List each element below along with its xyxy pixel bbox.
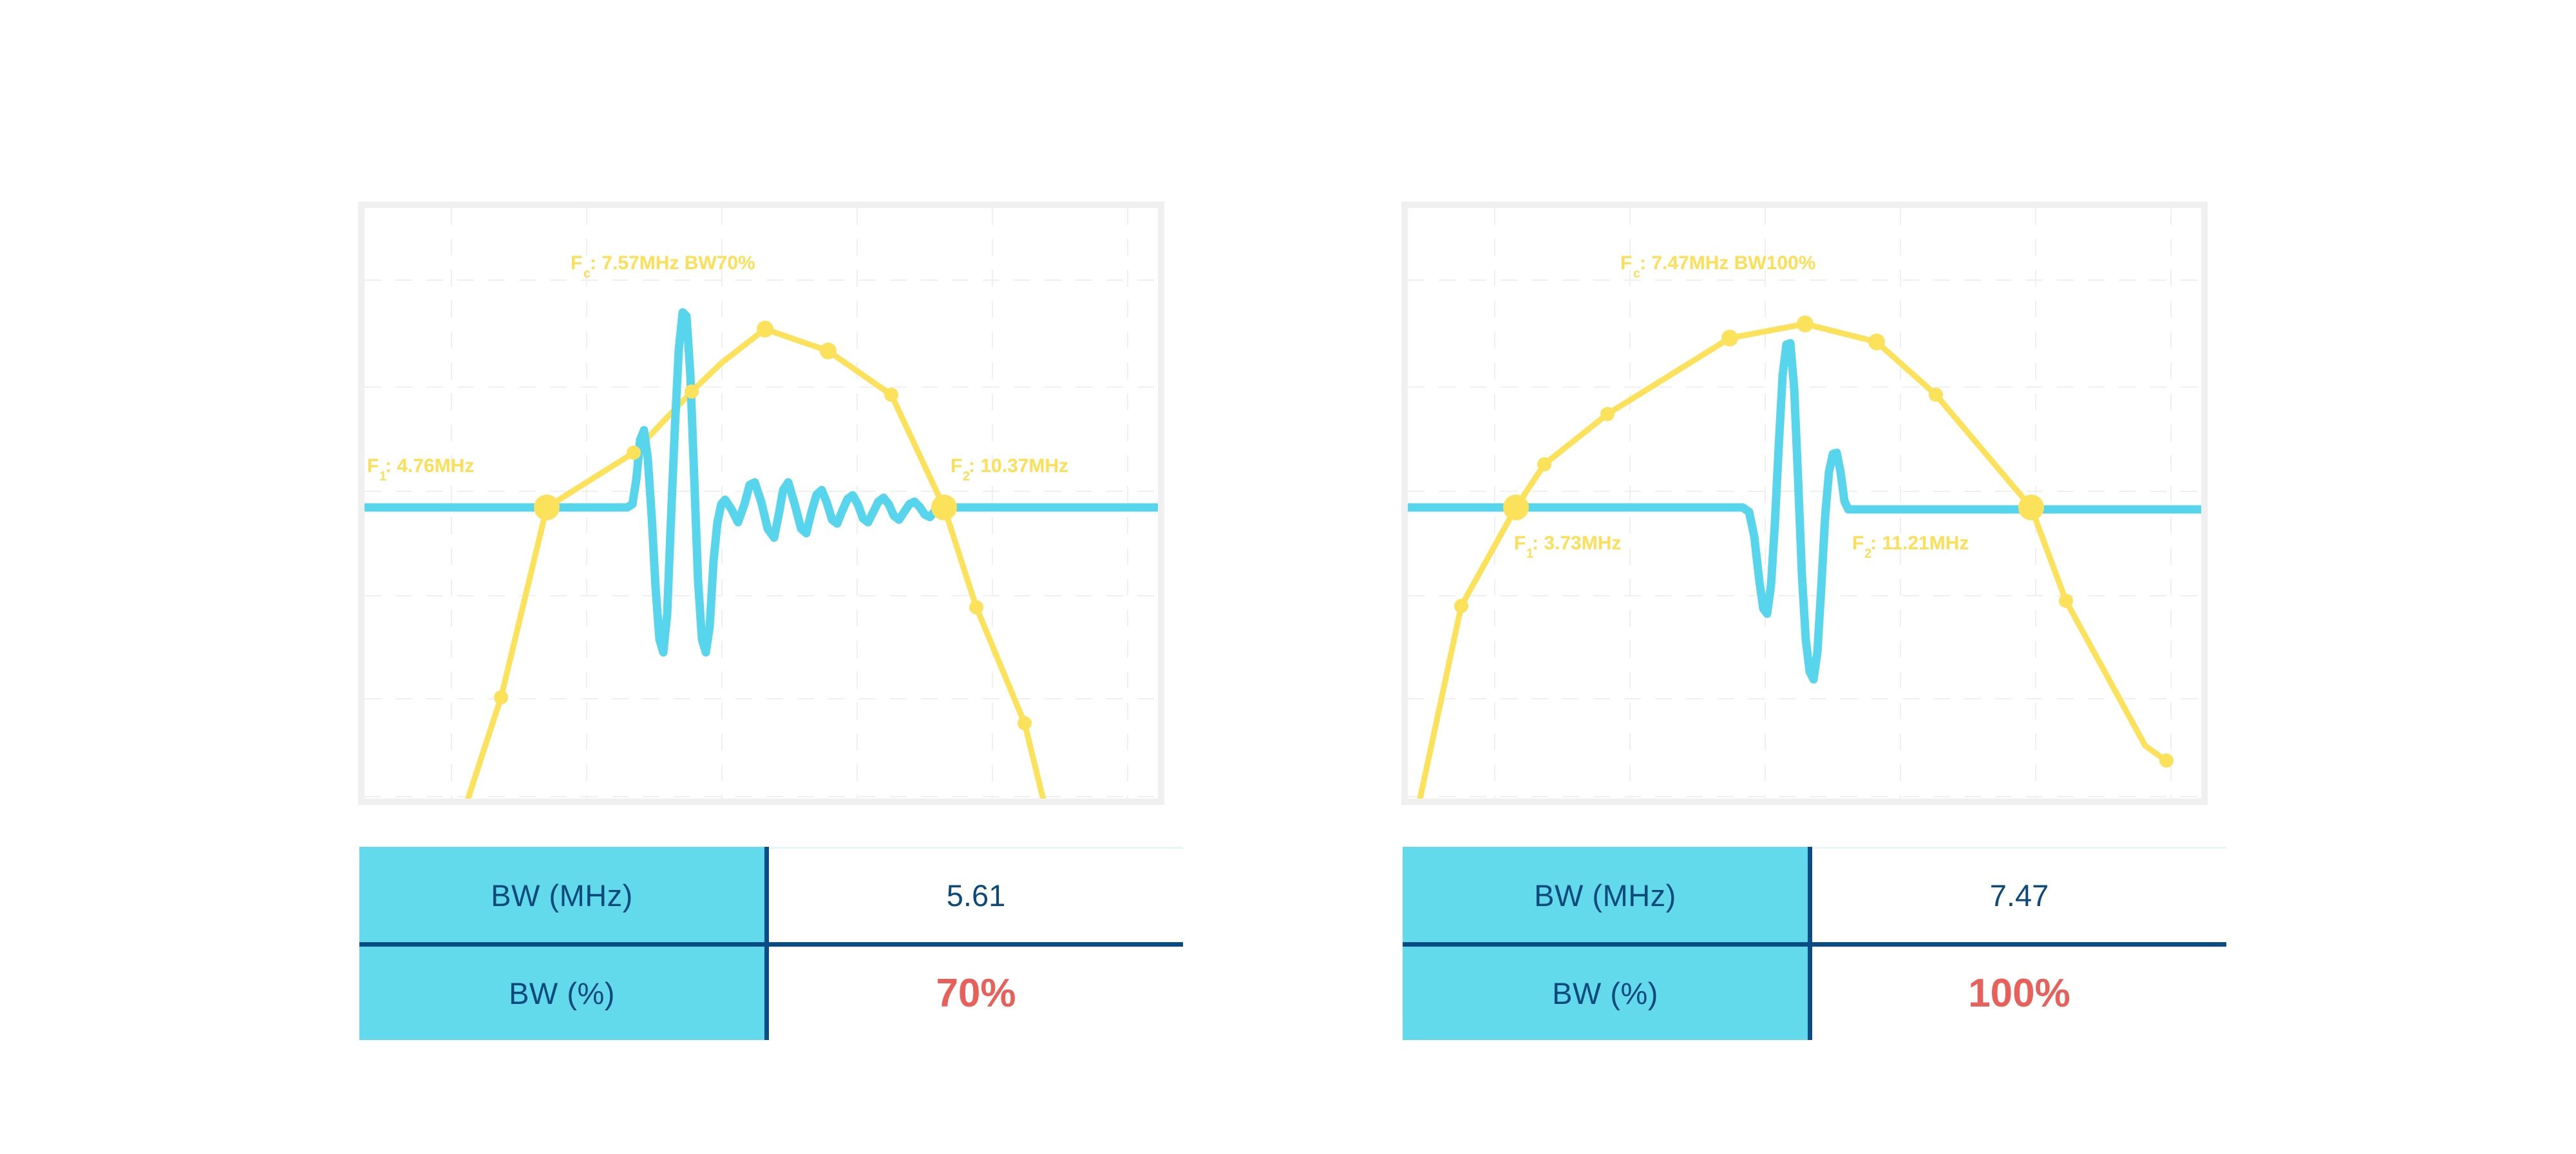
annotation-f2-text: : 11.21MHz bbox=[1870, 533, 1969, 554]
table-row: BW (MHz) 5.61 bbox=[359, 848, 1183, 945]
annotation-f1-text: : 3.73MHz bbox=[1532, 533, 1621, 554]
chart-bw100: F c : 7.47MHz BW100% F 1 : 3.73MHz F 2 :… bbox=[1401, 202, 2208, 805]
annotation-f2: F 2 : 10.37MHz bbox=[951, 455, 1068, 484]
annotation-center-text: : 7.57MHz BW70% bbox=[590, 252, 755, 274]
annotation-f1-text: : 4.76MHz bbox=[385, 455, 474, 477]
annotation-f2-prefix: F bbox=[1852, 533, 1864, 554]
chart-bw70: F c : 7.57MHz BW70% F 1 : 4.76MHz F 2 : … bbox=[358, 202, 1164, 805]
table-row: BW (MHz) 7.47 bbox=[1403, 848, 2226, 945]
annotation-center-prefix: F bbox=[1620, 252, 1632, 274]
bw-pct-value: 70% bbox=[767, 945, 1184, 1041]
panel-bw100: F c : 7.47MHz BW100% F 1 : 3.73MHz F 2 :… bbox=[1401, 202, 2208, 805]
annotation-f1: F 1 : 4.76MHz bbox=[367, 455, 474, 484]
bw-mhz-value: 5.61 bbox=[767, 848, 1184, 945]
annotation-f2-prefix: F bbox=[951, 455, 962, 477]
bw-mhz-label: BW (MHz) bbox=[1403, 848, 1810, 945]
bw-table-bw70: BW (MHz) 5.61 BW (%) 70% bbox=[359, 847, 1179, 1034]
annotation-f1-prefix: F bbox=[1514, 533, 1526, 554]
bw-mhz-label: BW (MHz) bbox=[359, 848, 767, 945]
annotation-center-freq: F c : 7.57MHz BW70% bbox=[571, 252, 755, 281]
pulse-waveform bbox=[366, 312, 1157, 652]
annotation-f2: F 2 : 11.21MHz bbox=[1852, 533, 1969, 561]
annotation-center-prefix: F bbox=[571, 252, 582, 274]
panel-bw70: F c : 7.57MHz BW70% F 1 : 4.76MHz F 2 : … bbox=[358, 202, 1164, 805]
bw-pct-label: BW (%) bbox=[1403, 945, 1810, 1041]
bw-table-bw100: BW (MHz) 7.47 BW (%) 100% bbox=[1403, 847, 2222, 1034]
table-row: BW (%) 70% bbox=[359, 945, 1183, 1041]
spectrum-curve bbox=[461, 329, 1046, 805]
annotation-f1: F 1 : 3.73MHz bbox=[1514, 533, 1621, 561]
annotation-f1-prefix: F bbox=[367, 455, 379, 477]
bw-mhz-value: 7.47 bbox=[1810, 848, 2227, 945]
annotation-center-text: : 7.47MHz BW100% bbox=[1640, 252, 1815, 274]
table-row: BW (%) 100% bbox=[1403, 945, 2226, 1041]
annotation-f2-text: : 10.37MHz bbox=[969, 455, 1068, 477]
bw-pct-label: BW (%) bbox=[359, 945, 767, 1041]
annotation-center-freq: F c : 7.47MHz BW100% bbox=[1620, 252, 1815, 281]
bw-pct-value: 100% bbox=[1810, 945, 2227, 1041]
